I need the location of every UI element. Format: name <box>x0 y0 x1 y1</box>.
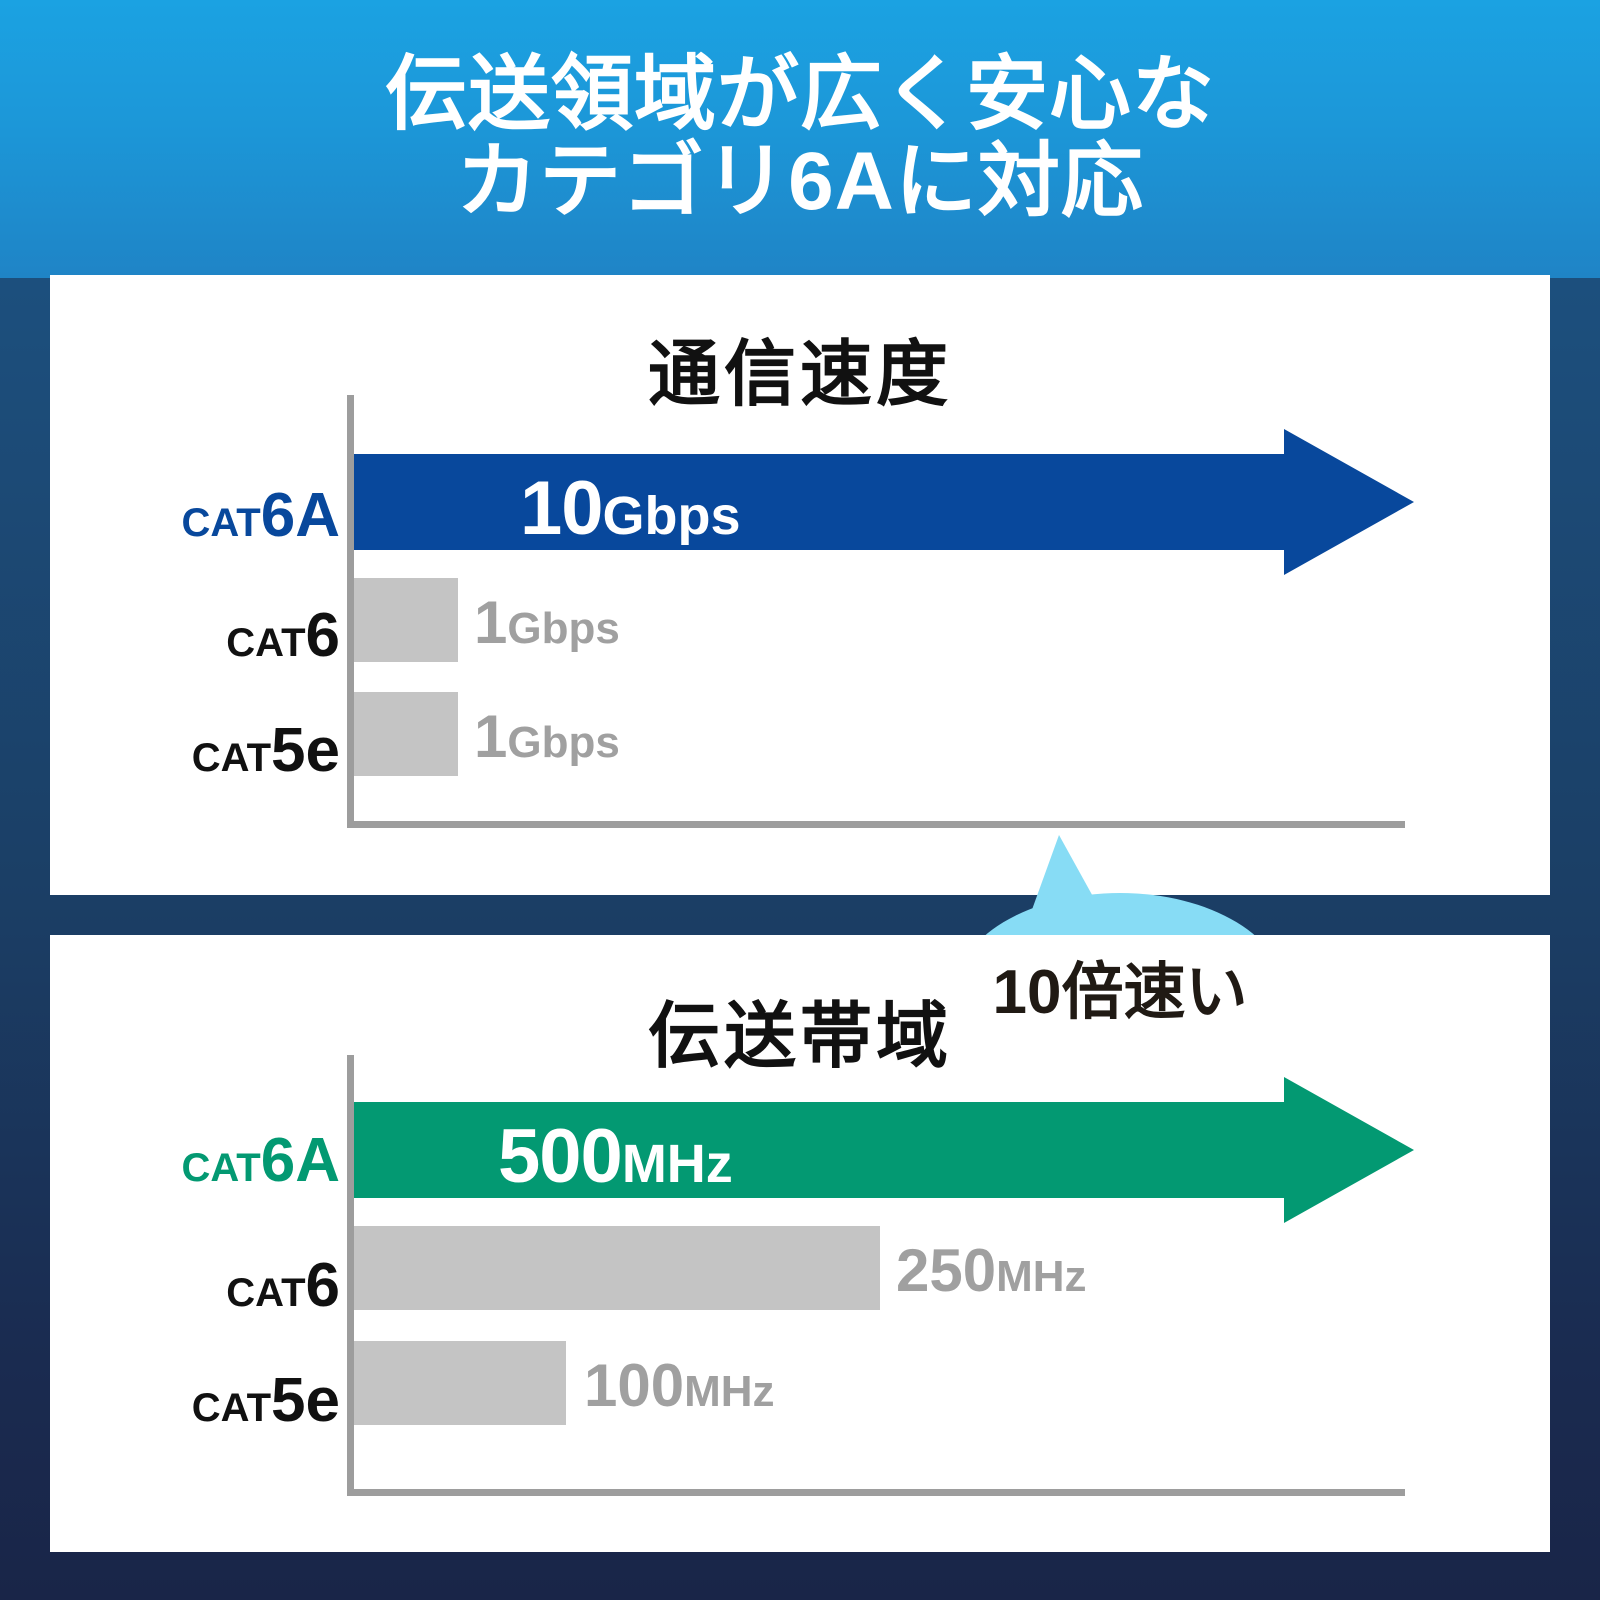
bar-value-number: 1 <box>474 589 507 656</box>
category-label-cat6a: CAT6A <box>110 1130 340 1192</box>
header-banner: 伝送領域が広く安心な カテゴリ6Aに対応 <box>0 0 1600 278</box>
bar-value-number: 100 <box>584 1352 684 1419</box>
category-label-prefix: CAT <box>226 1271 305 1315</box>
bar-value-cat6a-speed: 10Gbps <box>520 471 741 547</box>
category-label-cat6: CAT6 <box>110 1255 340 1317</box>
category-label-cat5e: CAT5e <box>110 1370 340 1432</box>
bar-cat6-speed <box>354 578 458 662</box>
bar-value-unit: Gbps <box>603 486 741 546</box>
category-label-number: 5e <box>271 716 340 785</box>
bar-value-cat6a-band: 500MHz <box>498 1119 733 1195</box>
callout-line1: 10倍速い <box>993 958 1248 1027</box>
chart-y-axis <box>347 1055 354 1495</box>
category-label-cat6: CAT6 <box>110 605 340 667</box>
category-label-number: 5e <box>271 1366 340 1435</box>
category-label-number: 6 <box>306 1251 340 1320</box>
infographic-page: 伝送領域が広く安心な カテゴリ6Aに対応 通信速度 CAT6A 10Gbps <box>0 0 1600 1600</box>
bar-value-number: 500 <box>498 1114 622 1199</box>
bar-cat5e-speed <box>354 692 458 776</box>
category-label-number: 6A <box>261 481 340 550</box>
category-label-prefix: CAT <box>226 621 305 665</box>
category-label-prefix: CAT <box>192 1386 271 1430</box>
bar-value-unit: MHz <box>684 1367 774 1416</box>
category-label-prefix: CAT <box>181 501 260 545</box>
panel-transmission-bandwidth: 伝送帯域 CAT6A 500MHz CAT6 25 <box>50 935 1550 1552</box>
bar-value-number: 10 <box>520 466 603 551</box>
bar-cat5e-band <box>354 1341 566 1425</box>
chart-x-axis <box>347 1489 1405 1496</box>
bar-value-unit: MHz <box>622 1134 733 1194</box>
panel-communication-speed: 通信速度 CAT6A 10Gbps CAT6 1G <box>50 275 1550 895</box>
bar-value-cat6-speed: 1Gbps <box>474 593 620 653</box>
bar-value-number: 1 <box>474 703 507 770</box>
bar-value-number: 250 <box>896 1237 996 1304</box>
category-label-prefix: CAT <box>192 736 271 780</box>
bar-cat6-band <box>354 1226 880 1310</box>
category-label-cat5e: CAT5e <box>110 720 340 782</box>
chart-communication-speed: CAT6A 10Gbps CAT6 1Gbps CAT5e <box>50 275 1550 895</box>
callout-text-speed: 10倍速い <box>993 960 1248 1027</box>
bar-value-cat6-band: 250MHz <box>896 1241 1087 1301</box>
category-label-number: 6 <box>306 601 340 670</box>
bar-arrow-cat6a-speed <box>354 429 1414 575</box>
category-label-prefix: CAT <box>181 1146 260 1190</box>
bar-value-unit: MHz <box>996 1252 1086 1301</box>
bar-value-unit: Gbps <box>507 718 619 767</box>
bar-value-cat5e-speed: 1Gbps <box>474 707 620 767</box>
chart-y-axis <box>347 395 354 827</box>
header-title-line2: カテゴリ6Aに対応 <box>456 139 1144 226</box>
bar-value-cat5e-band: 100MHz <box>584 1356 775 1416</box>
category-label-cat6a: CAT6A <box>110 485 340 547</box>
bar-value-unit: Gbps <box>507 604 619 653</box>
category-label-number: 6A <box>261 1126 340 1195</box>
chart-x-axis <box>347 821 1405 828</box>
header-title-line1: 伝送領域が広く安心な <box>385 52 1215 139</box>
chart-transmission-bandwidth: CAT6A 500MHz CAT6 250MHz CAT5e <box>50 935 1550 1552</box>
